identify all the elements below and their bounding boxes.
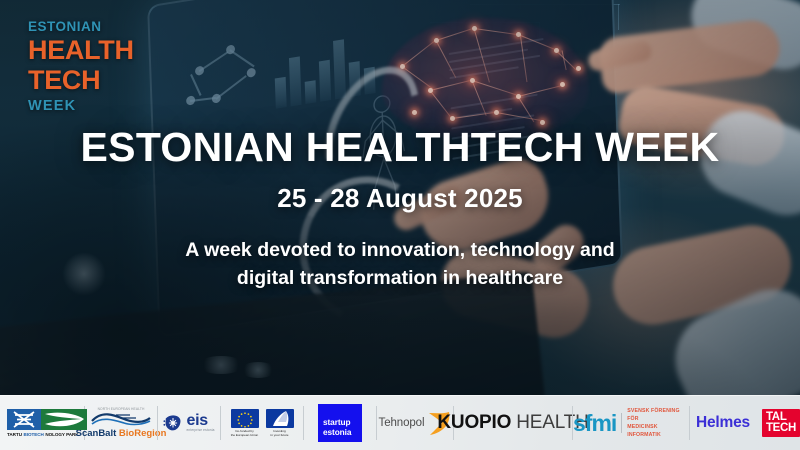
subtitle-line-1: A week devoted to innovation, technology… xyxy=(0,236,800,264)
sponsor-helmes[interactable]: Helmes xyxy=(690,396,756,450)
page-title: ESTONIAN HEALTHTECH WEEK xyxy=(0,126,800,169)
startup-name-line2: estonia xyxy=(323,428,357,437)
eu-caption: Co-funded by the European Union xyxy=(231,430,259,438)
subtitle-line-2: digital transformation in healthcare xyxy=(0,264,800,292)
startup-estonia-logo: startup estonia xyxy=(318,404,362,442)
sponsor-sfmi[interactable]: sfmi SVENSK FÖRENING FÖR MEDICINSK INFOR… xyxy=(573,396,689,450)
logo-line-tech: TECH xyxy=(28,67,112,94)
tartu-logo-mark: TARTU BIOTECHNOLOGY PARK xyxy=(7,409,83,437)
sponsor-startup-estonia[interactable]: startup estonia xyxy=(304,396,376,450)
kuopio-wordmark: KUOPIO HEALTH xyxy=(437,412,588,434)
eis-wordmark: eis enterprise estonia xyxy=(186,413,214,432)
sponsor-eis[interactable]: eis enterprise estonia xyxy=(158,396,220,450)
wave-icon xyxy=(90,412,152,427)
logo-line-week: WEEK xyxy=(28,99,112,114)
sponsor-logo-bar: TARTU BIOTECHNOLOGY PARK NORTH EUROPEAN … xyxy=(0,395,800,450)
taltech-logo: TAL TECH xyxy=(762,409,800,437)
eis-subtitle: enterprise estonia xyxy=(186,429,214,432)
eis-name: eis xyxy=(186,413,214,429)
tartu-wordmark: TARTU BIOTECHNOLOGY PARK xyxy=(7,432,83,437)
scanbalt-wordmark: ScanBalt BioRegion xyxy=(76,428,167,439)
leaf-icon xyxy=(41,409,87,430)
logo-line-health: HEALTH xyxy=(28,37,112,64)
event-subtitle: A week devoted to innovation, technology… xyxy=(0,236,800,293)
estonia-flag-icon xyxy=(266,409,294,428)
estonia-snowflake-icon xyxy=(163,413,183,433)
tartu-name-part1: TARTU xyxy=(7,432,22,437)
sfmi-subtitle: SVENSK FÖRENING FÖR MEDICINSK INFORMATIK xyxy=(627,407,689,439)
sfmi-subtitle-line1: SVENSK FÖRENING FÖR xyxy=(627,407,689,423)
helmes-name: Helmes xyxy=(696,414,750,432)
headline-block: ESTONIAN HEALTHTECH WEEK 25 - 28 August … xyxy=(0,126,800,293)
event-banner: ESTONIAN HEALTH TECH WEEK ESTONIAN HEALT… xyxy=(0,0,800,450)
estonia-caption-line2: in your future xyxy=(270,434,288,438)
tehnopol-name: Tehnopol xyxy=(379,417,425,429)
sfmi-divider xyxy=(621,413,622,433)
sponsor-taltech[interactable]: TAL TECH xyxy=(756,396,800,450)
estonia-investing-logo: Investing in your future xyxy=(266,409,294,438)
dna-helix-icon xyxy=(7,409,41,430)
scanbalt-tagline: NORTH EUROPEAN HEALTH xyxy=(98,407,145,411)
sponsor-tartu-biotechnology-park[interactable]: TARTU BIOTECHNOLOGY PARK xyxy=(0,396,84,450)
sponsor-scanbalt[interactable]: NORTH EUROPEAN HEALTH ScanBalt BioRegion xyxy=(85,396,157,450)
event-logo: ESTONIAN HEALTH TECH WEEK xyxy=(28,20,112,113)
kuopio-name-part1: KUOPIO xyxy=(437,412,511,433)
eu-cofunded-logo: Co-funded by the European Union xyxy=(231,409,259,438)
sfmi-subtitle-line2: MEDICINSK INFORMATIK xyxy=(627,423,689,439)
tartu-name-part3: NOLOGY PARK xyxy=(45,432,78,437)
sponsor-kuopio-health[interactable]: KUOPIO HEALTH xyxy=(454,396,572,450)
eu-flag-icon xyxy=(231,409,259,428)
eu-caption-line2: the European Union xyxy=(231,434,259,438)
sponsor-eu-estonia[interactable]: Co-funded by the European Union Investin… xyxy=(221,396,303,450)
estonia-caption: Investing in your future xyxy=(270,430,288,438)
taltech-name-line2: TECH xyxy=(766,423,796,434)
event-dates: 25 - 28 August 2025 xyxy=(0,183,800,214)
tartu-emblem xyxy=(7,409,83,430)
sfmi-name: sfmi xyxy=(573,412,616,435)
tartu-name-part2: BIOTECH xyxy=(23,432,43,437)
logo-line-estonian: ESTONIAN xyxy=(28,20,112,34)
